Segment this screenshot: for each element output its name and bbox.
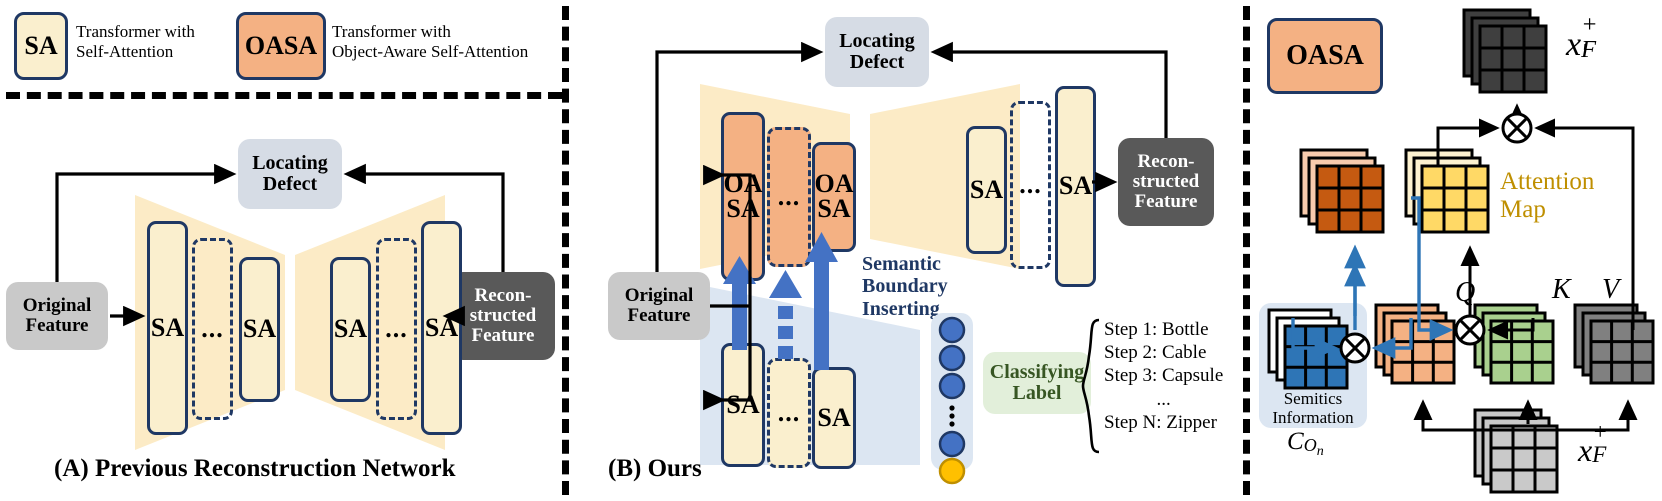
panel-a-arrows <box>0 0 562 470</box>
panel-divider-ab <box>562 6 569 495</box>
panel-b-arrows <box>570 0 1242 480</box>
panel-b-title: (B) Ours <box>608 455 702 483</box>
figure-root: SA Transformer with Self-Attention OASA … <box>0 0 1662 501</box>
panel-c-wiring <box>1243 0 1662 501</box>
panel-a-title: (A) Previous Reconstruction Network <box>54 455 456 483</box>
